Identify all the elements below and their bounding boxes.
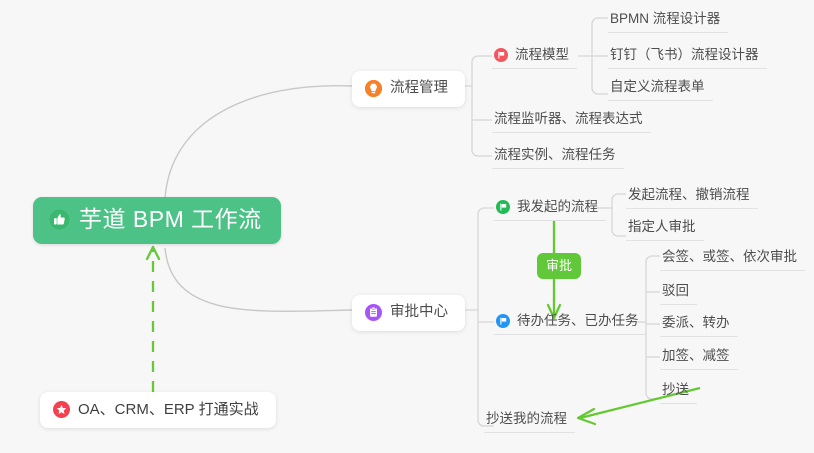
lightbulb-icon <box>365 80 382 97</box>
node-assigned-approval[interactable]: 指定人审批 <box>626 216 704 241</box>
node-cc-to-me[interactable]: 抄送我的流程 <box>484 408 575 433</box>
node-label-reject: 驳回 <box>662 283 689 299</box>
node-countersign[interactable]: 会签、或签、依次审批 <box>660 246 805 271</box>
link-root-to-approval-center <box>165 248 352 311</box>
node-my-initiated-flows[interactable]: 我发起的流程 <box>494 196 606 221</box>
node-label-process-model: 流程模型 <box>515 47 569 63</box>
flag-icon <box>496 200 510 214</box>
node-label-delegate-transfer: 委派、转办 <box>662 315 730 331</box>
node-label-start-cancel-flow: 发起流程、撤销流程 <box>628 187 750 203</box>
node-reject[interactable]: 驳回 <box>660 280 697 305</box>
node-start-cancel-flow[interactable]: 发起流程、撤销流程 <box>626 184 758 209</box>
node-label-add-remove-sign: 加签、减签 <box>662 348 730 364</box>
link-bracket-process-management <box>462 56 492 156</box>
node-custom-form[interactable]: 自定义流程表单 <box>608 76 713 101</box>
node-label-my-initiated-flows: 我发起的流程 <box>517 199 598 215</box>
node-label-countersign: 会签、或签、依次审批 <box>662 249 797 265</box>
root-node[interactable]: 芋道 BPM 工作流 <box>33 197 281 244</box>
node-label-process-instance: 流程实例、流程任务 <box>494 147 616 163</box>
node-label-bpmn-designer: BPMN 流程设计器 <box>610 11 720 27</box>
clipboard-icon <box>365 304 382 321</box>
thumbs-up-icon <box>49 209 70 230</box>
node-dingtalk-designer[interactable]: 钉钉（飞书）流程设计器 <box>608 44 767 69</box>
branch-node-process-management[interactable]: 流程管理 <box>352 71 465 107</box>
node-cc[interactable]: 抄送 <box>660 379 697 404</box>
node-label-todo-done-tasks: 待办任务、已办任务 <box>517 313 639 329</box>
node-todo-done-tasks[interactable]: 待办任务、已办任务 <box>494 310 647 335</box>
bottom-node-label: OA、CRM、ERP 打通实战 <box>78 402 259 417</box>
flag-icon <box>494 48 508 62</box>
root-label: 芋道 BPM 工作流 <box>79 208 262 231</box>
link-bracket-approval-center <box>462 208 494 426</box>
node-label-cc: 抄送 <box>662 382 689 398</box>
node-label-dingtalk-designer: 钉钉（飞书）流程设计器 <box>610 47 759 63</box>
flag-icon <box>496 314 510 328</box>
node-bpmn-designer[interactable]: BPMN 流程设计器 <box>608 8 728 33</box>
node-process-instance[interactable]: 流程实例、流程任务 <box>492 144 624 169</box>
node-label-process-listener: 流程监听器、流程表达式 <box>494 111 643 127</box>
arrow-bottom-dashed-head <box>147 247 159 259</box>
branch-label-approval-center: 审批中心 <box>390 305 448 320</box>
branch-label-process-management: 流程管理 <box>390 81 448 96</box>
bottom-node-integration[interactable]: OA、CRM、ERP 打通实战 <box>40 392 276 428</box>
star-icon <box>53 401 70 418</box>
node-process-listener[interactable]: 流程监听器、流程表达式 <box>492 108 651 133</box>
node-label-assigned-approval: 指定人审批 <box>628 219 696 235</box>
link-bracket-process-model <box>578 18 608 94</box>
node-label-cc-to-me: 抄送我的流程 <box>486 411 567 427</box>
annotation-tag-approval: 审批 <box>537 253 581 279</box>
link-root-to-process-management <box>165 86 352 199</box>
node-delegate-transfer[interactable]: 委派、转办 <box>660 312 738 337</box>
node-add-remove-sign[interactable]: 加签、减签 <box>660 345 738 370</box>
node-label-custom-form: 自定义流程表单 <box>610 79 705 95</box>
node-process-model[interactable]: 流程模型 <box>492 44 577 69</box>
mindmap-canvas: 芋道 BPM 工作流 流程管理 流程模型 BPMN 流程设计器 钉钉（飞书）流程… <box>0 0 814 453</box>
branch-node-approval-center[interactable]: 审批中心 <box>352 295 465 331</box>
